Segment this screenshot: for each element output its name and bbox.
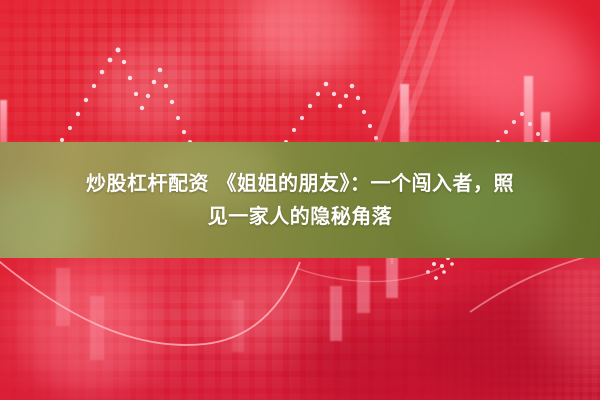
headline-line-2: 见一家人的隐秘角落 xyxy=(208,205,393,228)
candlestick-group-lower xyxy=(56,250,398,360)
headline: 炒股杠杆配资 《姐姐的朋友》：一个闯入者，照 见一家人的隐秘角落 xyxy=(0,142,600,258)
trend-curve-lower-right xyxy=(470,252,600,312)
dotted-peak-series-2 xyxy=(284,82,384,148)
dotted-peak-series-1 xyxy=(60,48,192,145)
dotted-peak-series-3 xyxy=(496,112,548,144)
trend-curve-lower-left xyxy=(0,258,300,345)
headline-line-1: 炒股杠杆配资 《姐姐的朋友》：一个闯入者，照 xyxy=(86,172,514,195)
price-bars-upper xyxy=(0,76,550,143)
article-cover-image: 炒股杠杆配资 《姐姐的朋友》：一个闯入者，照 见一家人的隐秘角落 xyxy=(0,0,600,400)
light-streaks xyxy=(378,0,455,140)
